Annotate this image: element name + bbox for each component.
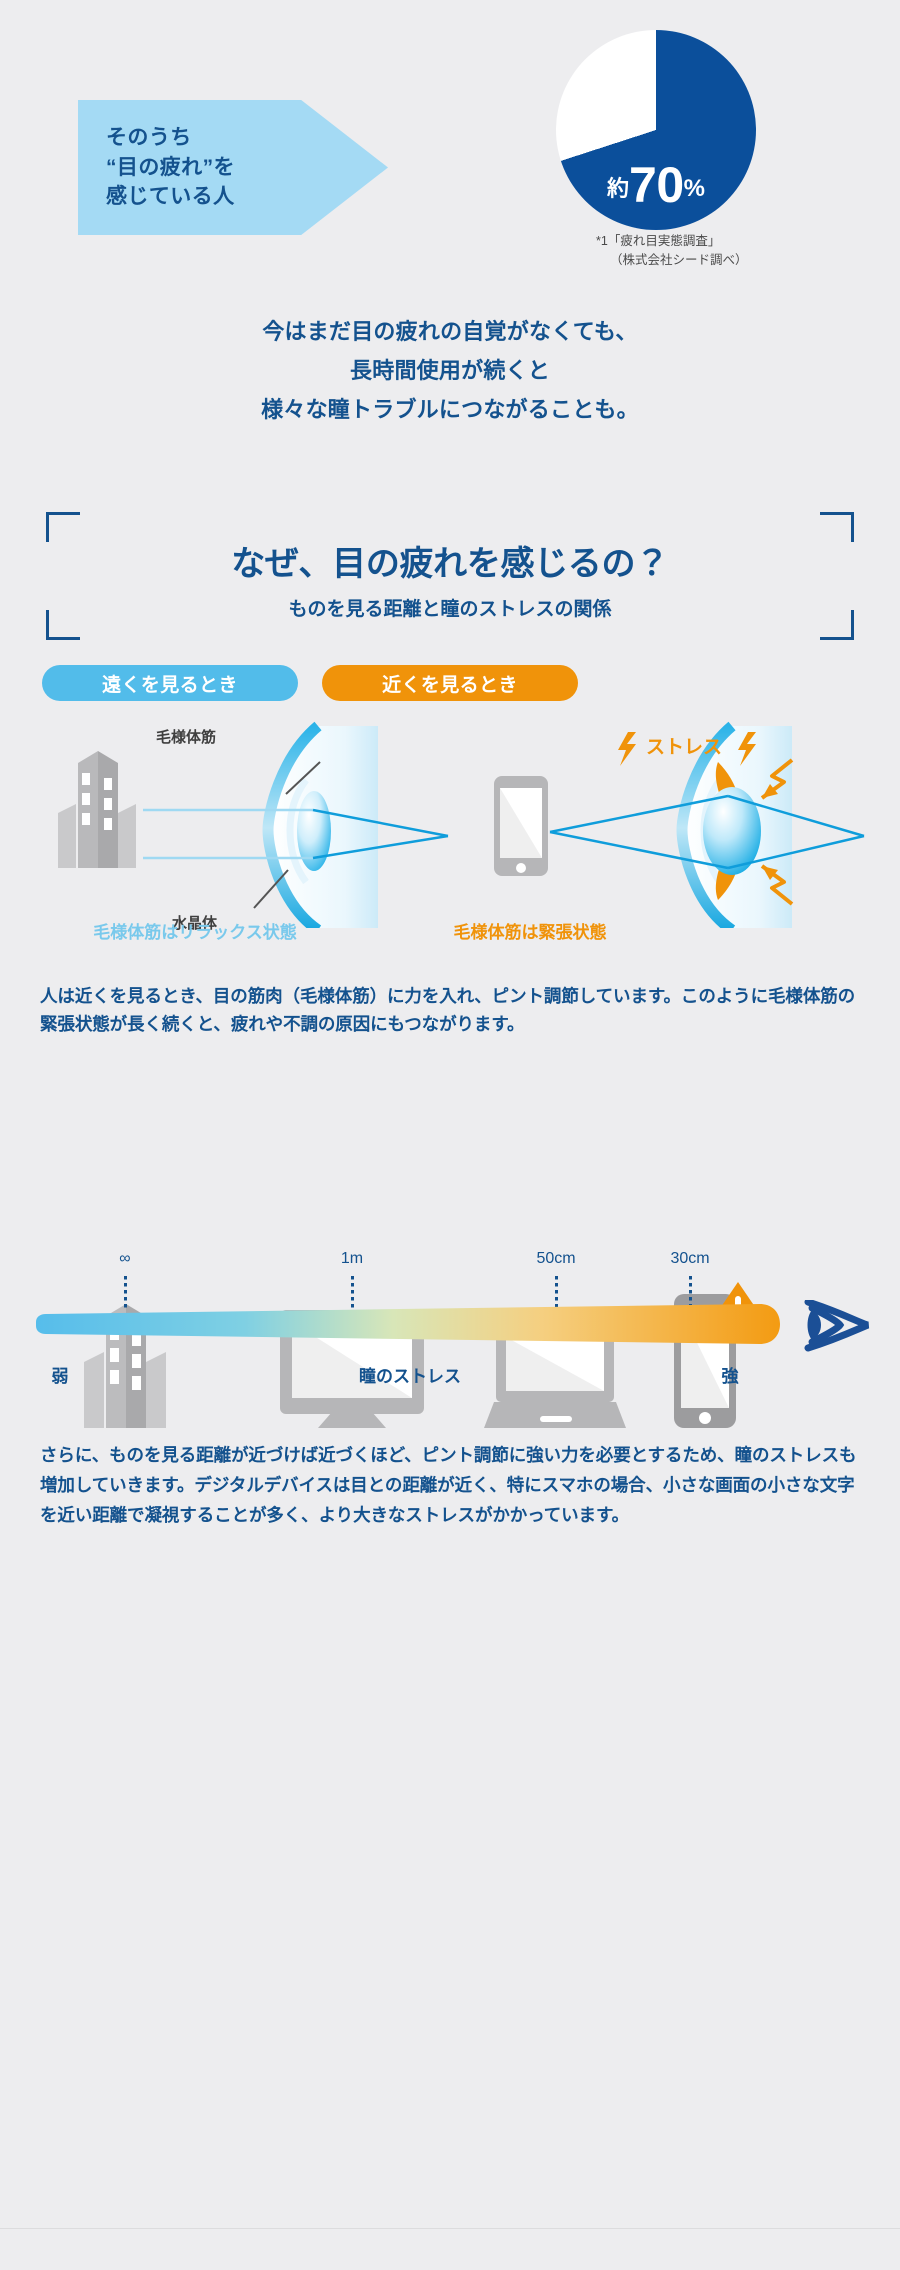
eye-diagram-pair: 毛様体筋 水晶体 — [0, 718, 900, 948]
distance-label-30cm: 30cm — [650, 1250, 730, 1268]
pie-value-unit: % — [684, 175, 705, 202]
caption-far-vision: 毛様体筋はリラックス状態 — [30, 918, 360, 943]
lead-line-1: 今はまだ目の疲れの自覚がなくても、 — [0, 312, 900, 351]
banner-line-1: そのうち — [106, 123, 192, 153]
arrow-callout-banner: そのうち “目の疲れ”を 感じている人 — [78, 100, 388, 235]
smartphone-icon — [494, 776, 548, 876]
comparison-tabs: 遠くを見るとき 近くを見るとき — [0, 665, 900, 705]
distance-label-infinity: ∞ — [85, 1250, 165, 1268]
tab-near-vision[interactable]: 近くを見るとき — [322, 665, 578, 701]
explanation-paragraph-2: さらに、ものを見る距離が近づけば近づくほど、ピント調節に強い力を必要とするため、… — [40, 1440, 860, 1530]
caption-near-vision: 毛様体筋は緊張状態 — [360, 918, 700, 943]
stress-gradient-bar — [0, 1300, 900, 1360]
pie-approx-prefix: 約 — [607, 176, 629, 201]
pie-source-note: *1「疲れ目実態調査」 （株式会社シード調べ） — [596, 232, 748, 271]
buildings-icon — [58, 751, 136, 868]
axis-label-weak: 弱 — [30, 1362, 90, 1387]
infographic-page: そのうち “目の疲れ”を 感じている人 約70% *1「疲れ目実態調査」 （株式… — [0, 0, 900, 2270]
distance-label-50cm: 50cm — [516, 1250, 596, 1268]
pie-value-number: 70 — [629, 157, 684, 213]
axis-label-center: 瞳のストレス — [300, 1362, 520, 1387]
distance-label-1m: 1m — [312, 1250, 392, 1268]
label-stress: ストレス — [646, 732, 722, 759]
section-heading-block: なぜ、目の疲れを感じるの？ ものを見る距離と瞳のストレスの関係 — [46, 512, 854, 640]
bottom-divider — [0, 2228, 900, 2229]
banner-line-2: “目の疲れ”を — [106, 153, 235, 183]
tab-far-vision[interactable]: 遠くを見るとき — [42, 665, 298, 701]
label-ciliary-muscle-far: 毛様体筋 — [156, 726, 216, 747]
explanation-paragraph-1: 人は近くを見るとき、目の筋肉（毛様体筋）に力を入れ、ピント調節しています。このよ… — [40, 982, 860, 1039]
section-heading-title: なぜ、目の疲れを感じるの？ — [46, 536, 854, 585]
distance-stress-scale: ∞ 1m 50cm 30cm — [0, 1100, 900, 1430]
pie-source-line-2: （株式会社シード調べ） — [596, 251, 748, 270]
pie-chart-circle: 約70% — [556, 30, 756, 230]
far-vision-diagram — [18, 718, 458, 928]
lead-line-3: 様々な瞳トラブルにつながることも。 — [0, 390, 900, 429]
axis-label-strong: 強 — [700, 1362, 760, 1387]
pie-value-label: 約70% — [556, 156, 756, 214]
lightning-bolt-left-icon — [618, 732, 636, 766]
lead-paragraph: 今はまだ目の疲れの自覚がなくても、 長時間使用が続くと 様々な瞳トラブルにつなが… — [0, 312, 900, 429]
pie-source-line-1: *1「疲れ目実態調査」 — [596, 234, 720, 248]
lead-line-2: 長時間使用が続くと — [0, 351, 900, 390]
section-heading-subtitle: ものを見る距離と瞳のストレスの関係 — [46, 594, 854, 621]
banner-line-3: 感じている人 — [106, 182, 235, 212]
